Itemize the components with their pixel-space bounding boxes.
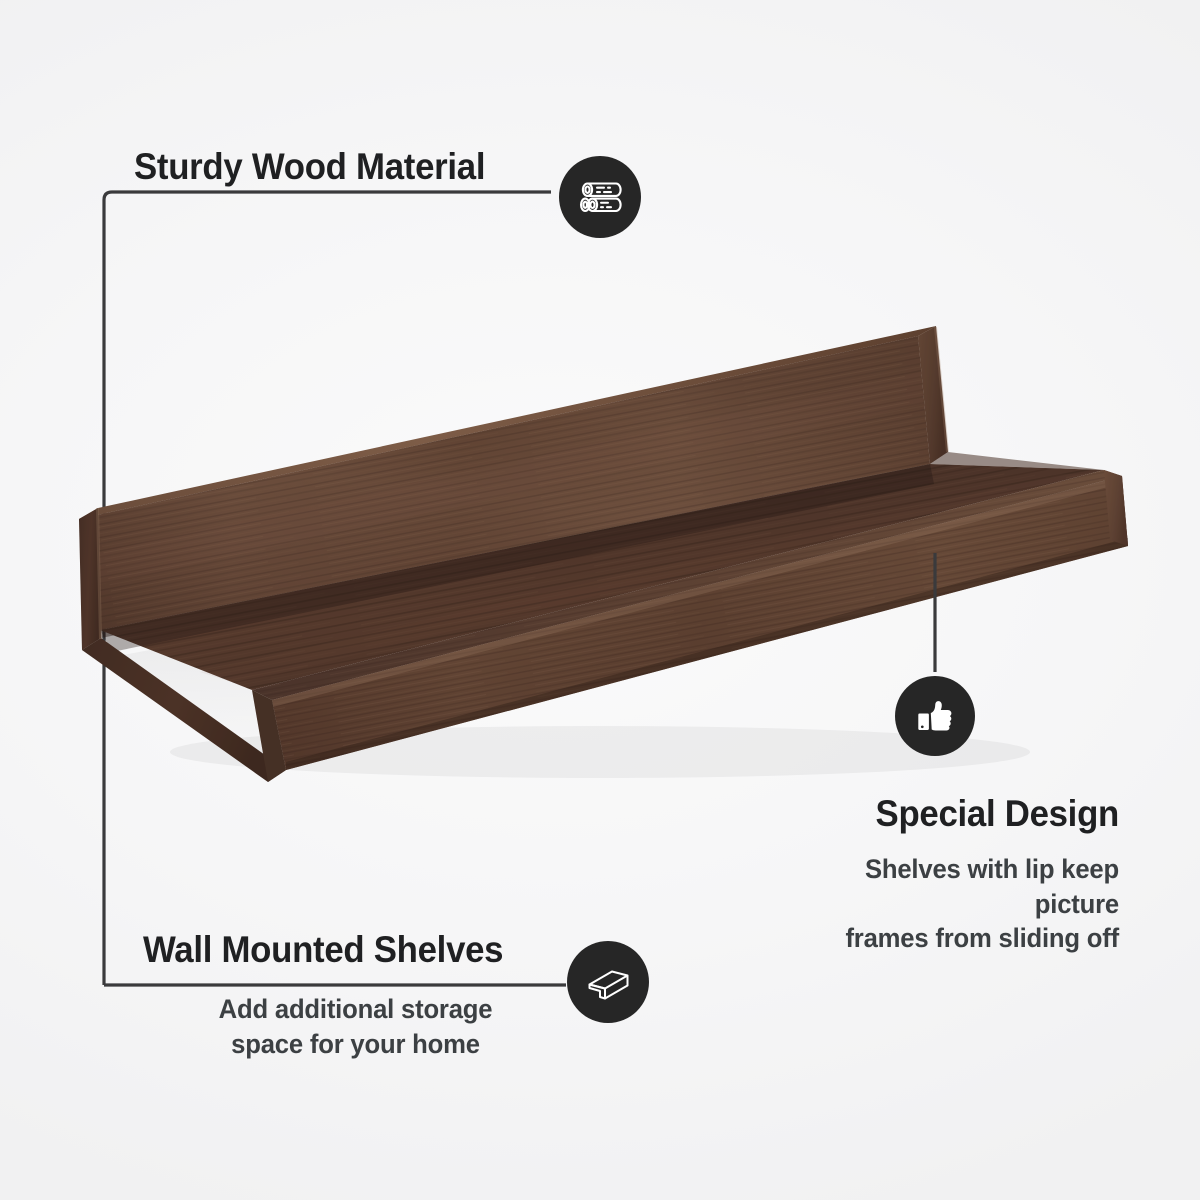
callout-special-design: Special Design Shelves with lip keep pic… <box>759 793 1119 956</box>
callout-wall-mounted-shelves: Wall Mounted Shelves Add additional stor… <box>143 929 568 1061</box>
thumbs-up-icon <box>895 676 975 756</box>
shelf-ledge-icon <box>567 941 649 1023</box>
callout-subtitle-special-design: Shelves with lip keep picture frames fro… <box>777 852 1119 956</box>
subtitle-line-1: Shelves with lip keep picture <box>777 852 1119 921</box>
callout-sturdy-wood-material: Sturdy Wood Material <box>134 146 508 188</box>
infographic-canvas: Sturdy Wood Material <box>0 0 1200 1200</box>
subtitle-line-2: frames from sliding off <box>777 921 1119 956</box>
callout-title-sturdy-wood-material: Sturdy Wood Material <box>134 146 485 188</box>
subtitle-line-2: space for your home <box>154 1027 558 1062</box>
log-stack-icon <box>559 156 641 238</box>
callout-title-wall-mounted-shelves: Wall Mounted Shelves <box>143 929 543 971</box>
callout-subtitle-wall-mounted-shelves: Add additional storage space for your ho… <box>154 992 558 1061</box>
callout-title-special-design: Special Design <box>781 793 1119 835</box>
subtitle-line-1: Add additional storage <box>154 992 558 1027</box>
